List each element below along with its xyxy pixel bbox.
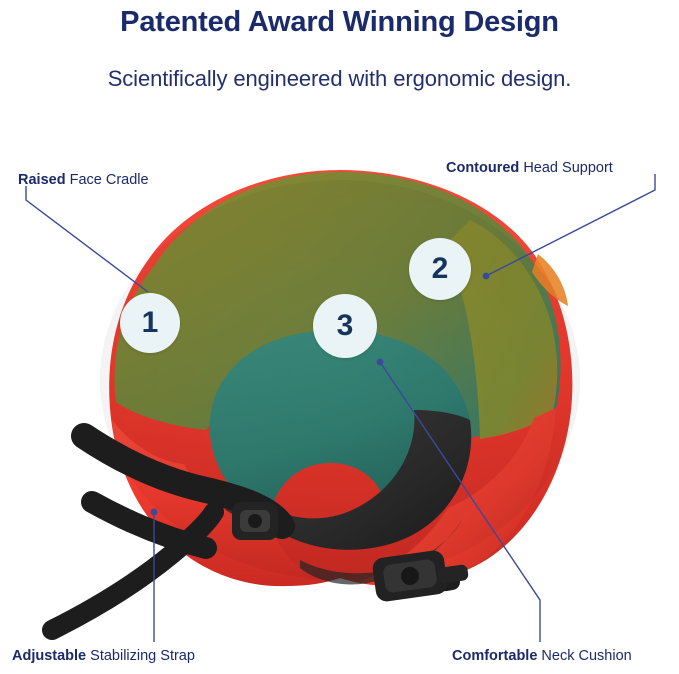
- callout-adjustable-stabilizing-strap-rest: Stabilizing Strap: [86, 648, 195, 664]
- callout-raised-face-cradle-rest: Face Cradle: [66, 172, 149, 188]
- badge-1: 1: [120, 293, 180, 353]
- callout-adjustable-stabilizing-strap-bold: Adjustable: [12, 648, 86, 664]
- callout-comfortable-neck-cushion-rest: Neck Cushion: [537, 648, 631, 664]
- callout-raised-face-cradle: Raised Face Cradle: [18, 172, 149, 188]
- callout-raised-face-cradle-bold: Raised: [18, 172, 66, 188]
- page-title: Patented Award Winning Design: [0, 6, 679, 39]
- callout-contoured-head-support-bold: Contoured: [446, 160, 519, 176]
- callout-contoured-head-support: Contoured Head Support: [446, 160, 613, 176]
- callout-comfortable-neck-cushion-bold: Comfortable: [452, 648, 537, 664]
- product-feature-diagram: Patented Award Winning Design Scientific…: [0, 0, 679, 674]
- neck-pillow-illustration: [0, 130, 679, 650]
- page-subtitle: Scientifically engineered with ergonomic…: [0, 66, 679, 92]
- pillow-shading: [100, 180, 580, 580]
- callout-contoured-head-support-rest: Head Support: [519, 160, 613, 176]
- badge-3: 3: [313, 294, 377, 358]
- pillow-body: [100, 170, 580, 587]
- callout-adjustable-stabilizing-strap: Adjustable Stabilizing Strap: [12, 648, 195, 664]
- strap-buckle-left: [232, 502, 278, 540]
- badge-2: 2: [409, 238, 471, 300]
- callout-comfortable-neck-cushion: Comfortable Neck Cushion: [452, 648, 632, 664]
